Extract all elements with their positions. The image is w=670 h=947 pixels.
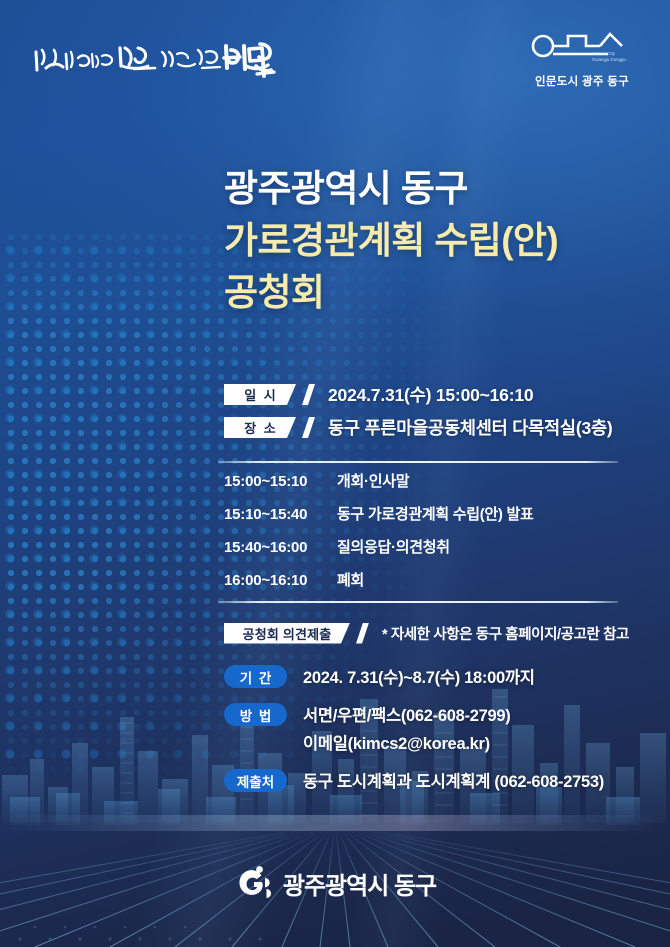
- schedule-divider-top: [218, 461, 618, 463]
- method-value-2: 이메일(kimcs2@korea.kr): [303, 730, 510, 758]
- poster-canvas: Human City Gwangju Donggu 인문도시 광주 동구 광주광…: [0, 0, 670, 947]
- opinion-submission-section: 공청회 의견제출 * 자세한 사항은 동구 홈페이지/공고란 참고 기 간 20…: [224, 620, 654, 805]
- logo-en-line1: Human City: [592, 51, 616, 56]
- submission-note: * 자세한 사항은 동구 홈페이지/공고란 참고: [382, 623, 629, 644]
- submission-row-period: 기 간 2024. 7.31(수)~8.7(수) 18:00까지: [224, 663, 654, 692]
- submission-label-badge: 공청회 의견제출: [224, 623, 350, 644]
- period-values: 2024. 7.31(수)~8.7(수) 18:00까지: [303, 663, 535, 692]
- schedule-row: 15:10~15:40 동구 가로경관계획 수립(안) 발표: [224, 503, 644, 536]
- place-label-badge: 장 소: [224, 417, 296, 438]
- title-line-3: 공청회: [224, 267, 654, 319]
- office-label-pill: 제출처: [224, 769, 287, 792]
- submission-badge-slash: [356, 623, 369, 644]
- slogan-calligraphy: [30, 36, 280, 82]
- date-label-badge: 일 시: [224, 384, 296, 405]
- method-values: 서면/우편/팩스(062-608-2799) 이메일(kimcs2@korea.…: [303, 701, 510, 758]
- schedule-time: 16:00~16:10: [224, 572, 337, 589]
- schedule-time: 15:00~15:10: [224, 473, 337, 490]
- place-value: 동구 푸른마을공동체센터 다목적실(3층): [328, 415, 613, 440]
- info-row-date: 일 시 2024.7.31(수) 15:00~16:10: [224, 378, 644, 411]
- method-label-pill: 방 법: [224, 703, 287, 726]
- schedule-row: 16:00~16:10 폐회: [224, 569, 644, 602]
- footer-city-logo: 광주광역시 동구: [0, 864, 670, 902]
- schedule-time: 15:40~16:00: [224, 539, 337, 556]
- schedule-time: 15:10~15:40: [224, 506, 337, 523]
- office-value: 동구 도시계획과 도시계획계 (062-608-2753): [303, 768, 604, 796]
- info-row-place: 장 소 동구 푸른마을공동체센터 다목적실(3층): [224, 411, 644, 444]
- title-line-1: 광주광역시 동구: [224, 163, 654, 215]
- title-line-2: 가로경관계획 수립(안): [224, 215, 654, 267]
- period-value: 2024. 7.31(수)~8.7(수) 18:00까지: [303, 664, 535, 692]
- submission-row-method: 방 법 서면/우편/팩스(062-608-2799) 이메일(kimcs2@ko…: [224, 701, 654, 758]
- schedule-title: 질의응답·의견청취: [337, 536, 450, 557]
- submission-row-office: 제출처 동구 도시계획과 도시계획계 (062-608-2753): [224, 767, 654, 796]
- place-badge-slash: [302, 417, 315, 438]
- schedule-list: 15:00~15:10 개회·인사말 15:10~15:40 동구 가로경관계획…: [224, 470, 644, 602]
- date-value: 2024.7.31(수) 15:00~16:10: [328, 382, 533, 407]
- schedule-divider-bottom: [218, 601, 618, 603]
- submission-rows: 기 간 2024. 7.31(수)~8.7(수) 18:00까지 방 법 서면/…: [224, 663, 654, 796]
- period-label-pill: 기 간: [224, 665, 287, 688]
- date-badge-slash: [302, 384, 315, 405]
- footer-city-name: 광주광역시 동구: [283, 866, 436, 901]
- poster-title: 광주광역시 동구 가로경관계획 수립(안) 공청회: [224, 163, 654, 319]
- event-info: 일 시 2024.7.31(수) 15:00~16:10 장 소 동구 푸른마을…: [224, 378, 644, 444]
- office-values: 동구 도시계획과 도시계획계 (062-608-2753): [303, 767, 604, 796]
- schedule-row: 15:00~15:10 개회·인사말: [224, 470, 644, 503]
- submission-heading: 공청회 의견제출 * 자세한 사항은 동구 홈페이지/공고란 참고: [224, 620, 654, 646]
- schedule-title: 동구 가로경관계획 수립(안) 발표: [337, 503, 534, 524]
- gwangju-g-mark-icon: [234, 864, 274, 902]
- logo-en-line2: Gwangju Donggu: [592, 57, 626, 62]
- schedule-title: 폐회: [337, 569, 364, 590]
- brand-name-label: 인문도시 광주 동구: [522, 73, 642, 89]
- human-city-logo: Human City Gwangju Donggu 인문도시 광주 동구: [522, 30, 642, 89]
- schedule-row: 15:40~16:00 질의응답·의견청취: [224, 536, 644, 569]
- method-value-1: 서면/우편/팩스(062-608-2799): [303, 702, 510, 730]
- schedule-title: 개회·인사말: [337, 470, 409, 491]
